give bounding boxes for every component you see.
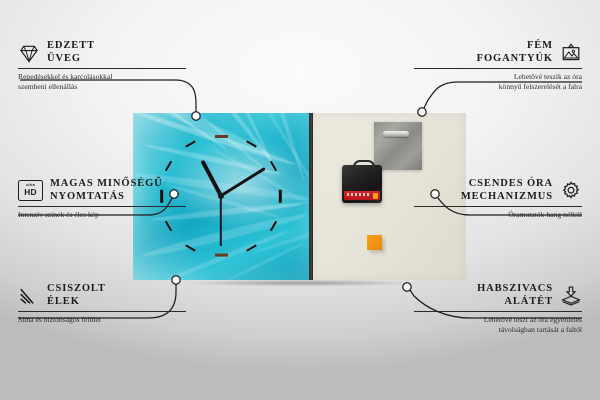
- clock-tick: [215, 135, 228, 138]
- feature-csiszolt-elek: CSISZOLTÉLEK Sima és biztonságos felület: [18, 283, 186, 325]
- battery-label: [347, 193, 369, 196]
- feature-fem-fogantyuk: FÉMFOGANTYÚK Lehetővé teszik az órakönny…: [414, 40, 582, 91]
- divider: [18, 311, 186, 312]
- divider: [414, 311, 582, 312]
- divider: [414, 206, 582, 207]
- feature-header: ultra HD MAGAS MINŐSÉGŰNYOMTATÁS: [18, 178, 186, 203]
- feature-header: EDZETTÜVEG: [18, 40, 186, 65]
- hanger-bracket: [383, 131, 409, 137]
- feature-habszivacs-alatet: HABSZIVACSALÁTÉT Lehetővé teszi az óra e…: [414, 283, 582, 334]
- metal-hanger: [374, 122, 422, 170]
- feature-title: HABSZIVACSALÁTÉT: [477, 283, 553, 308]
- battery: [344, 191, 380, 200]
- feature-description: Intenzív színek és éles kép: [18, 210, 186, 220]
- feature-header: CSISZOLTÉLEK: [18, 283, 186, 308]
- feature-edzett-uveg: EDZETTÜVEG Repedésekkel és karcolásokkal…: [18, 40, 186, 91]
- feature-title: MAGAS MINŐSÉGŰNYOMTATÁS: [50, 178, 163, 203]
- feature-description: Lehetővé teszik az órakönnyű felszerelés…: [414, 72, 582, 91]
- diamond-icon: [18, 42, 40, 64]
- feature-header: FÉMFOGANTYÚK: [414, 40, 582, 65]
- gear-icon: [560, 180, 582, 202]
- mechanism-handle: [353, 160, 375, 171]
- feature-title: FÉMFOGANTYÚK: [477, 40, 553, 65]
- feature-description: Óramutatók hang nélkül: [414, 210, 582, 220]
- battery-tip: [373, 193, 378, 199]
- divider: [18, 68, 186, 69]
- feature-title: EDZETTÜVEG: [47, 40, 95, 65]
- feature-description: Repedésekkel és karcolásokkalszembeni el…: [18, 72, 186, 91]
- clock-mechanism: [342, 165, 382, 203]
- feature-title: CSISZOLTÉLEK: [47, 283, 106, 308]
- divider: [18, 206, 186, 207]
- divider: [414, 68, 582, 69]
- feature-header: CSENDES ÓRAMECHANIZMUS: [414, 178, 582, 203]
- feature-title: CSENDES ÓRAMECHANIZMUS: [461, 178, 553, 203]
- clock-tick: [215, 254, 228, 257]
- infographic-canvas: EDZETTÜVEG Repedésekkel és karcolásokkal…: [0, 0, 600, 400]
- feature-header: HABSZIVACSALÁTÉT: [414, 283, 582, 308]
- polished-edges-icon: [18, 285, 40, 307]
- feature-csendes-ora-mechanizmus: CSENDES ÓRAMECHANIZMUS Óramutatók hang n…: [414, 178, 582, 220]
- picture-hanger-icon: [560, 42, 582, 64]
- foam-pad: [367, 235, 382, 250]
- hand-second: [220, 196, 222, 246]
- clock-tick: [279, 189, 282, 202]
- ultra-hd-icon: ultra HD: [18, 180, 43, 201]
- feature-description: Lehetővé teszi az óra egyenletestávolság…: [414, 315, 582, 334]
- feature-description: Sima és biztonságos felület: [18, 315, 186, 325]
- clock-center-cap: [218, 193, 224, 199]
- foam-pad-icon: [560, 285, 582, 307]
- feature-magas-minosegu-nyomtatas: ultra HD MAGAS MINŐSÉGŰNYOMTATÁS Intenzí…: [18, 178, 186, 220]
